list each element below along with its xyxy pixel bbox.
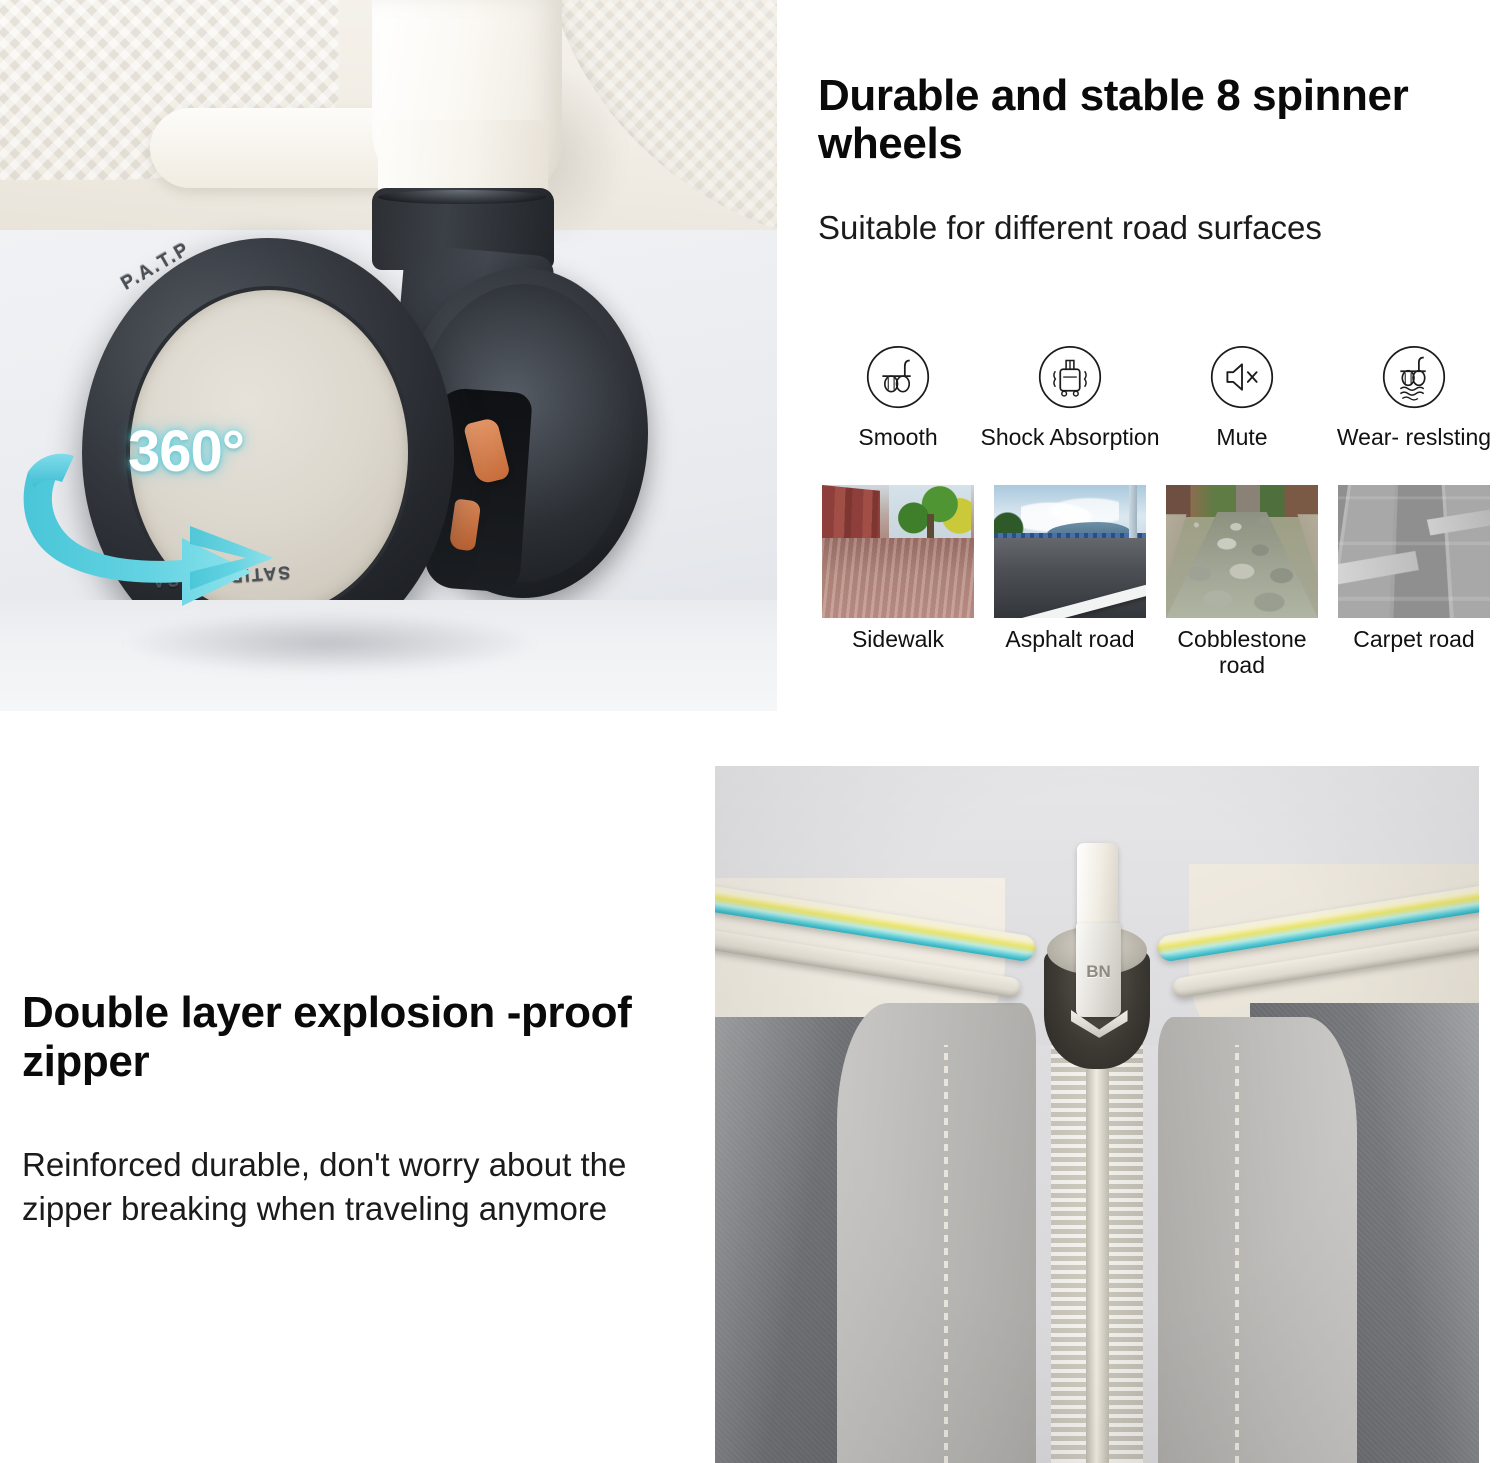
feature-item-mute: Mute [1156, 340, 1328, 450]
photo-ground-shadow [120, 612, 540, 674]
feature-label: Mute [1216, 424, 1267, 450]
rotation-degree-label: 360° [128, 423, 244, 481]
surface-label: Sidewalk [814, 627, 982, 653]
zipper-photo-vignette [715, 766, 1479, 1463]
road-surface-row: Sidewalk Asphalt road [812, 485, 1500, 679]
feature-label: Shock Absorption [981, 424, 1160, 450]
surface-item-carpet-road: Carpet road [1328, 485, 1500, 679]
feature-icon-row: Smooth Shock Absorption [812, 340, 1500, 450]
cobblestone-road-photo [1166, 485, 1318, 618]
wheels-info-column: Durable and stable 8 spinner wheels Suit… [812, 0, 1500, 720]
surface-item-cobblestone-road: Cobblestone road [1156, 485, 1328, 679]
zipper-heading: Double layer explosion -proof zipper [22, 988, 682, 1087]
feature-item-shock-absorption: Shock Absorption [984, 340, 1156, 450]
caster-wheel-water-icon [1375, 340, 1453, 418]
spinner-wheel-photo: P.A.T.P SATIDEL USA 360° [0, 0, 777, 711]
caster-wheel-icon [859, 340, 937, 418]
surface-item-sidewalk: Sidewalk [812, 485, 984, 679]
surface-item-asphalt-road: Asphalt road [984, 485, 1156, 679]
suitcase-vibration-icon [1031, 340, 1109, 418]
zipper-body-text: Reinforced durable, don't worry about th… [22, 1143, 692, 1231]
speaker-muted-icon [1203, 340, 1281, 418]
wheels-heading: Durable and stable 8 spinner wheels [818, 72, 1500, 168]
sidewalk-photo [822, 485, 974, 618]
feature-item-smooth: Smooth [812, 340, 984, 450]
zipper-closeup-photo: BN [715, 766, 1479, 1463]
feature-label: Wear- reslsting [1337, 424, 1491, 450]
surface-label: Cobblestone road [1158, 627, 1326, 679]
wheels-subheading: Suitable for different road surfaces [818, 208, 1500, 248]
surface-label: Carpet road [1330, 627, 1498, 653]
product-feature-page: P.A.T.P SATIDEL USA 360° [0, 0, 1500, 1463]
asphalt-road-photo [994, 485, 1146, 618]
surface-label: Asphalt road [986, 627, 1154, 653]
feature-item-wear-resisting: Wear- reslsting [1328, 340, 1500, 450]
feature-label: Smooth [858, 424, 937, 450]
carpet-road-photo [1338, 485, 1490, 618]
